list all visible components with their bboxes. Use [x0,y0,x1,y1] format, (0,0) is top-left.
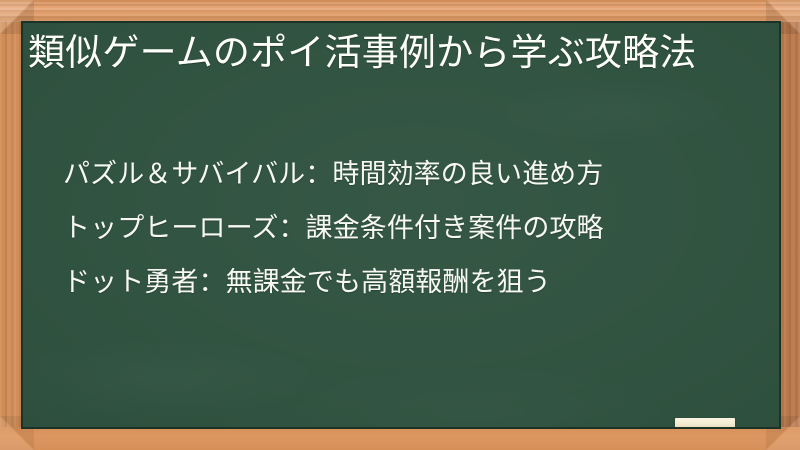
chalkboard-content: 類似ゲームのポイ活事例から学ぶ攻略法 パズル＆サバイバル：時間効率の良い進め方 … [23,23,779,427]
frame-rail-bottom-tray [0,427,800,450]
frame-rail-top [0,0,800,22]
slide-bullet-list: パズル＆サバイバル：時間効率の良い進め方 トップヒーローズ：課金条件付き案件の攻… [63,147,763,309]
list-item: パズル＆サバイバル：時間効率の良い進め方 [63,147,763,201]
chalk-stick-icon [675,418,735,427]
list-item: トップヒーローズ：課金条件付き案件の攻略 [63,201,763,255]
slide-title: 類似ゲームのポイ活事例から学ぶ攻略法 [28,29,758,76]
list-item: ドット勇者：無課金でも高額報酬を狙う [63,255,763,309]
chalkboard-surface: 類似ゲームのポイ活事例から学ぶ攻略法 パズル＆サバイバル：時間効率の良い進め方 … [23,23,779,427]
chalkboard-slide: 類似ゲームのポイ活事例から学ぶ攻略法 パズル＆サバイバル：時間効率の良い進め方 … [0,0,800,450]
